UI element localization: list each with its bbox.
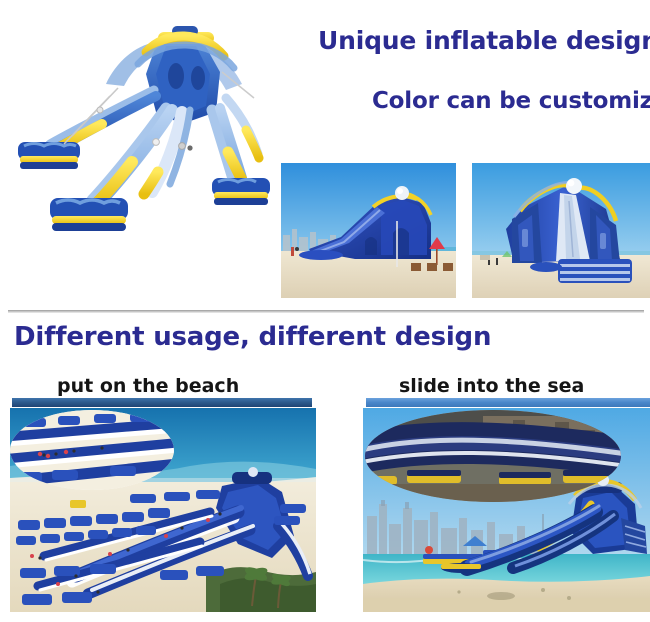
heading-unique-design: Unique inflatable design [318, 26, 650, 55]
marketing-page: Unique inflatable design Color can be cu… [0, 0, 650, 622]
caption-slide-into-the-sea: slide into the sea [399, 375, 584, 397]
underline-bar-left [12, 398, 312, 407]
hero-product-image [6, 12, 274, 244]
heading-different-usage: Different usage, different design [14, 322, 491, 352]
photo-slide-into-the-sea [363, 408, 650, 612]
heading-color-customized: Color can be customized [372, 88, 650, 114]
photo-slide-front-view [472, 163, 650, 298]
underline-bar-right [366, 398, 650, 407]
photo-aerial-beach-installation [10, 408, 316, 612]
section-divider [8, 310, 644, 313]
photo-slide-on-beach-side-view [281, 163, 456, 298]
caption-put-on-the-beach: put on the beach [57, 375, 239, 397]
